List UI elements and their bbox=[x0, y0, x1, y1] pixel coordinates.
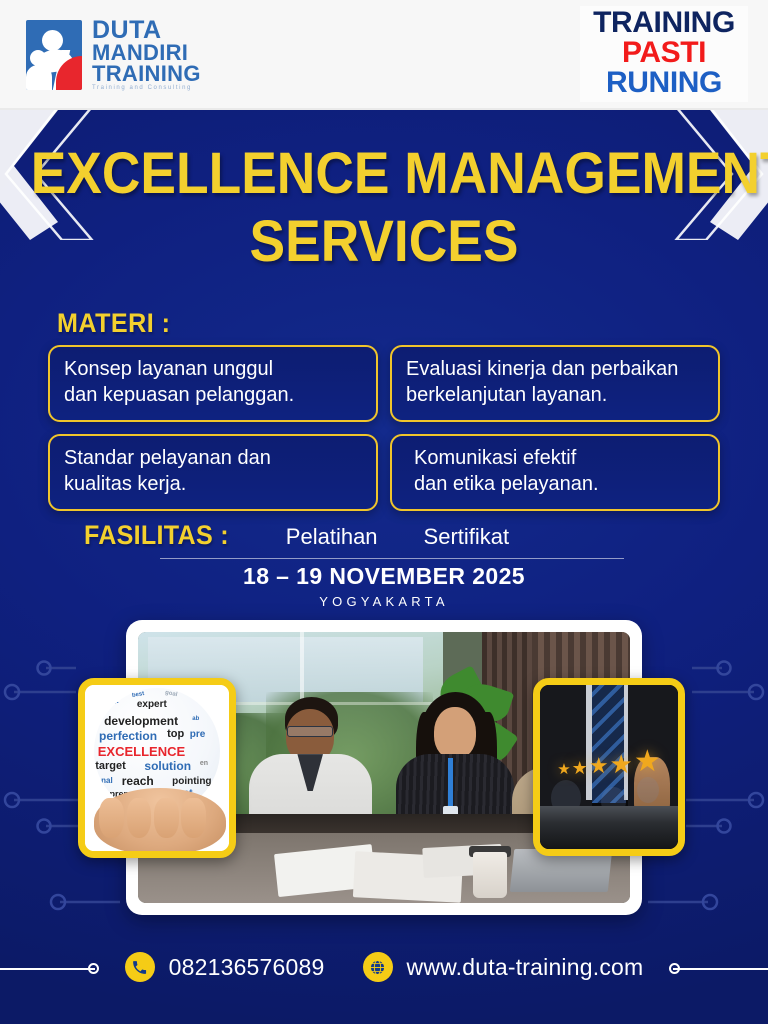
section-divider bbox=[160, 558, 624, 559]
materi-item-3-line-2: kualitas kerja. bbox=[64, 473, 186, 495]
logo-tagline: Training and Consulting bbox=[92, 86, 201, 92]
star-rating: ★ ★ ★ ★ ★ bbox=[540, 747, 678, 777]
title-line-2: SERVICES bbox=[31, 214, 738, 270]
event-city: YOGYAKARTA bbox=[0, 594, 768, 609]
eyeglasses bbox=[287, 726, 333, 738]
materi-item-4-line-1: Komunikasi efektif bbox=[414, 447, 576, 469]
badge-line-2: PASTI bbox=[580, 38, 748, 68]
materi-item-1-line-1: Konsep layanan unggul bbox=[64, 358, 273, 380]
poster-title: EXCELLENCE MANAGEMENT SERVICES bbox=[0, 146, 768, 269]
star-icon: ★ bbox=[610, 751, 633, 777]
materi-item: Konsep layanan unggul dan kepuasan pelan… bbox=[48, 345, 378, 422]
fasilitas-row: FASILITAS : Pelatihan Sertifikat bbox=[84, 520, 509, 551]
phone-number[interactable]: 082136576089 bbox=[169, 954, 325, 981]
materi-item-4-line-2: dan etika pelayanan. bbox=[414, 473, 599, 495]
materi-item-3-line-1: Standar pelayanan dan bbox=[64, 447, 271, 469]
fasilitas-item-pelatihan: Pelatihan bbox=[286, 524, 378, 550]
event-date: 18 – 19 NOVEMBER 2025 bbox=[0, 563, 768, 590]
badge-line-1: TRAINING bbox=[580, 8, 748, 38]
phone-icon bbox=[125, 952, 155, 982]
materi-item-2-line-2: berkelanjutan layanan. bbox=[406, 384, 607, 406]
materi-item: Evaluasi kinerja dan perbaikan berkelanj… bbox=[390, 345, 720, 422]
fasilitas-item-sertifikat: Sertifikat bbox=[424, 524, 510, 550]
striped-necktie bbox=[592, 685, 625, 803]
globe-icon bbox=[363, 952, 393, 982]
star-icon: ★ bbox=[557, 762, 570, 777]
footer-bar: 082136576089 www.duta-training.com bbox=[0, 920, 768, 1024]
poster-root: DUTA MANDIRI TRAINING Training and Consu… bbox=[0, 0, 768, 1024]
star-icon: ★ bbox=[572, 759, 588, 777]
logo-line-1: DUTA bbox=[92, 18, 201, 42]
logo-line-3: TRAINING bbox=[92, 63, 201, 84]
materi-item-2-line-1: Evaluasi kinerja dan perbaikan bbox=[406, 358, 678, 380]
five-star-rating-photo: ★ ★ ★ ★ ★ bbox=[533, 678, 685, 856]
logo-line-2: MANDIRI bbox=[92, 42, 201, 63]
star-icon: ★ bbox=[589, 755, 609, 777]
contact-row: 082136576089 www.duta-training.com bbox=[0, 952, 768, 982]
materi-item: Standar pelayanan dan kualitas kerja. bbox=[48, 434, 378, 511]
coffee-cup bbox=[473, 852, 507, 898]
brand-logo[interactable]: DUTA MANDIRI TRAINING Training and Consu… bbox=[26, 18, 201, 92]
excellence-word-cloud-photo: best goal ment expert development ab per… bbox=[78, 678, 236, 858]
badge-line-3: RUNING bbox=[580, 68, 748, 98]
materi-item: Komunikasi efektif dan etika pelayanan. bbox=[390, 434, 720, 511]
website-url[interactable]: www.duta-training.com bbox=[407, 954, 644, 981]
duta-mandiri-logo-mark bbox=[26, 20, 82, 90]
header-bar: DUTA MANDIRI TRAINING Training and Consu… bbox=[0, 0, 768, 110]
star-icon: ★ bbox=[634, 747, 661, 777]
materi-list: Konsep layanan unggul dan kepuasan pelan… bbox=[48, 345, 720, 511]
materi-heading: MATERI : bbox=[57, 308, 170, 339]
training-pasti-runing-badge: TRAINING PASTI RUNING bbox=[580, 6, 748, 102]
fasilitas-heading: FASILITAS : bbox=[84, 520, 229, 551]
materi-item-1-line-2: dan kepuasan pelanggan. bbox=[64, 384, 294, 406]
title-line-1: EXCELLENCE MANAGEMENT bbox=[31, 146, 738, 202]
logo-wordmark: DUTA MANDIRI TRAINING Training and Consu… bbox=[92, 18, 201, 92]
